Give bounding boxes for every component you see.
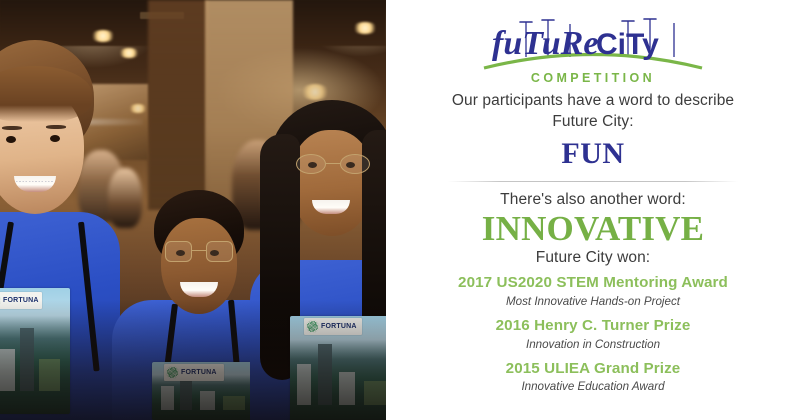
second-lead: There's also another word: xyxy=(500,191,686,209)
participants-photo: FORTUNA xyxy=(0,0,386,420)
highlight-word-innovative: INNOVATIVE xyxy=(482,210,704,248)
lead-line-2: Future City: xyxy=(452,111,734,132)
student-right-glasses xyxy=(290,152,378,176)
glasses-bridge xyxy=(192,250,206,251)
student-left-brow-right xyxy=(46,125,66,129)
logo-text-competition: COMPETITION xyxy=(531,71,655,85)
highlight-word-fun: FUN xyxy=(561,138,624,170)
glasses-lens-left xyxy=(165,241,192,262)
logo-lamp-tops xyxy=(520,19,656,22)
wall-panel-left xyxy=(148,0,208,210)
student-left-brow-left xyxy=(2,126,22,130)
content-panel: fuTuRe CiTy COMPETITION Our participants… xyxy=(386,0,800,420)
award-subtitle: Most Innovative Hands-on Project xyxy=(458,294,728,310)
section-divider xyxy=(448,181,738,182)
award-item: 2016 Henry C. Turner Prize Innovation in… xyxy=(496,317,691,352)
awards-intro: Future City won: xyxy=(536,249,650,267)
future-city-logo-svg: fuTuRe CiTy COMPETITION xyxy=(478,8,708,90)
glasses-lens-right xyxy=(206,241,233,262)
ceiling-light-2 xyxy=(118,48,140,58)
award-subtitle: Innovative Education Award xyxy=(506,379,681,395)
award-title: 2017 US2020 STEM Mentoring Award xyxy=(458,274,728,292)
student-center-glasses xyxy=(158,240,242,264)
student-left-eye-left xyxy=(6,136,16,143)
ceiling-light-3 xyxy=(352,22,378,34)
photo-foreground-shadow xyxy=(0,300,386,420)
logo-text-city: CiTy xyxy=(596,28,659,61)
award-item: 2017 US2020 STEM Mentoring Award Most In… xyxy=(458,274,728,309)
ceiling-light-5 xyxy=(128,104,148,113)
student-left-braces xyxy=(16,181,54,182)
lead-line-1: Our participants have a word to describe xyxy=(452,90,734,111)
award-title: 2015 ULIEA Grand Prize xyxy=(506,360,681,378)
student-left-eye-right xyxy=(50,135,60,142)
glasses-lens-left xyxy=(296,154,326,174)
lead-statement: Our participants have a word to describe… xyxy=(452,90,734,132)
future-city-logo: fuTuRe CiTy COMPETITION xyxy=(478,8,708,90)
awards-list: 2017 US2020 STEM Mentoring Award Most In… xyxy=(386,274,800,395)
glasses-lens-right xyxy=(340,154,370,174)
award-item: 2015 ULIEA Grand Prize Innovative Educat… xyxy=(506,360,681,395)
ceiling-light-4 xyxy=(300,84,330,100)
promo-graphic: FORTUNA xyxy=(0,0,800,420)
glasses-bridge xyxy=(326,163,340,164)
award-subtitle: Innovation in Construction xyxy=(496,337,691,353)
award-title: 2016 Henry C. Turner Prize xyxy=(496,317,691,335)
logo-text-future: fuTuRe xyxy=(492,25,598,62)
